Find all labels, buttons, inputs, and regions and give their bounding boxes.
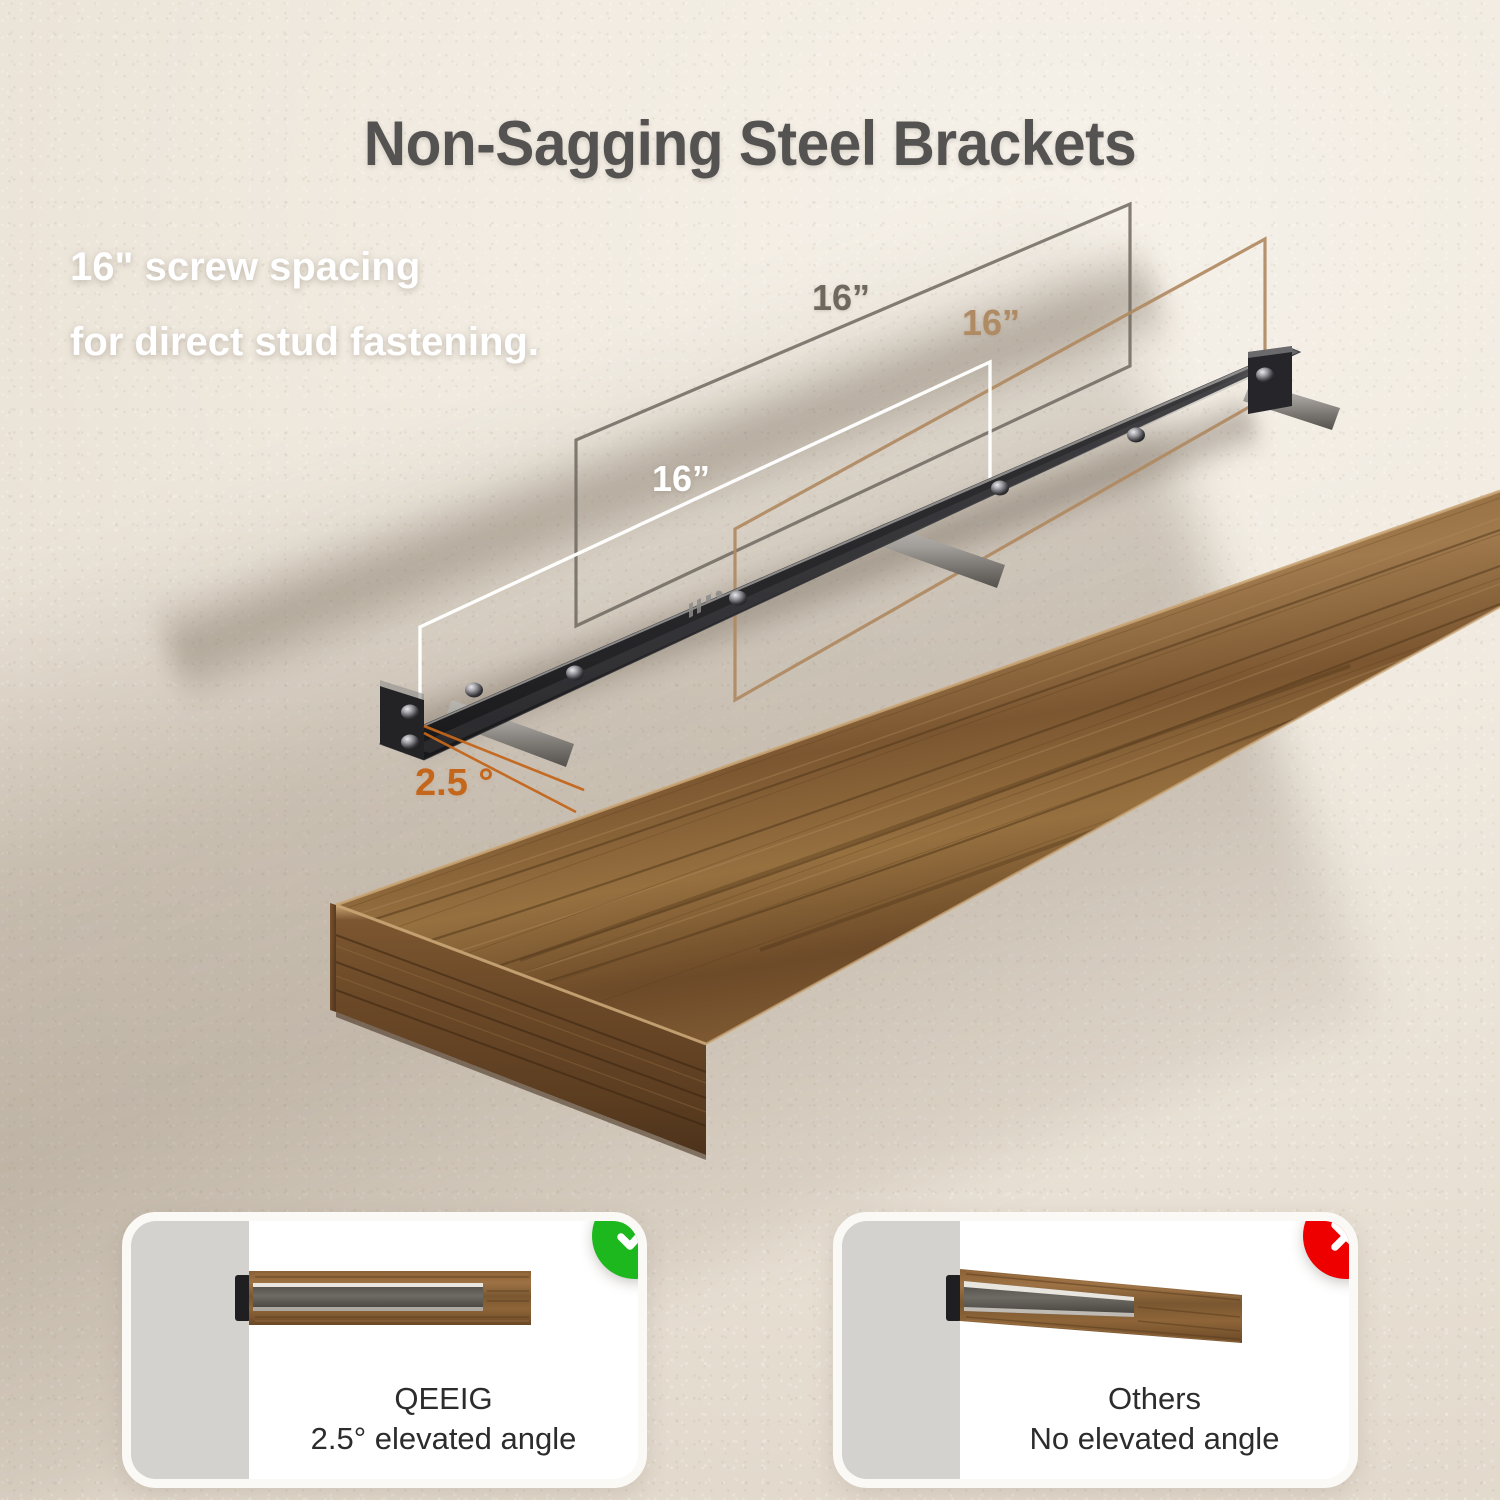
dimension-16in-tan: 16” xyxy=(962,302,1020,344)
card-shelf-illustration-level xyxy=(131,1221,638,1373)
card-description-label: 2.5° elevated angle xyxy=(249,1419,638,1459)
card-brand-label: Others xyxy=(960,1379,1349,1419)
card-brand-label: QEEIG xyxy=(249,1379,638,1419)
infographic-stage: Non-Sagging Steel Brackets 16" screw spa… xyxy=(0,0,1500,1500)
comparison-card-good[interactable]: QEEIG 2.5° elevated angle xyxy=(122,1212,647,1488)
card-caption-bad: Others No elevated angle xyxy=(960,1379,1349,1460)
dimension-16in-white: 16” xyxy=(652,458,710,500)
dimension-box-gray xyxy=(576,204,1130,626)
bracket-end-plate-left xyxy=(380,680,424,760)
card-shelf-illustration-sagging xyxy=(842,1221,1349,1373)
check-icon xyxy=(609,1212,647,1262)
card-caption-good: QEEIG 2.5° elevated angle xyxy=(249,1379,638,1460)
wood-shelf xyxy=(330,491,1500,1160)
dimension-16in-gray: 16” xyxy=(812,277,870,319)
card-description-label: No elevated angle xyxy=(960,1419,1349,1459)
cross-icon xyxy=(1320,1212,1358,1262)
comparison-cards: QEEIG 2.5° elevated angle xyxy=(0,1212,1500,1500)
angle-label-2-5-deg: 2.5 ° xyxy=(415,762,494,805)
comparison-card-bad[interactable]: Others No elevated angle xyxy=(833,1212,1358,1488)
